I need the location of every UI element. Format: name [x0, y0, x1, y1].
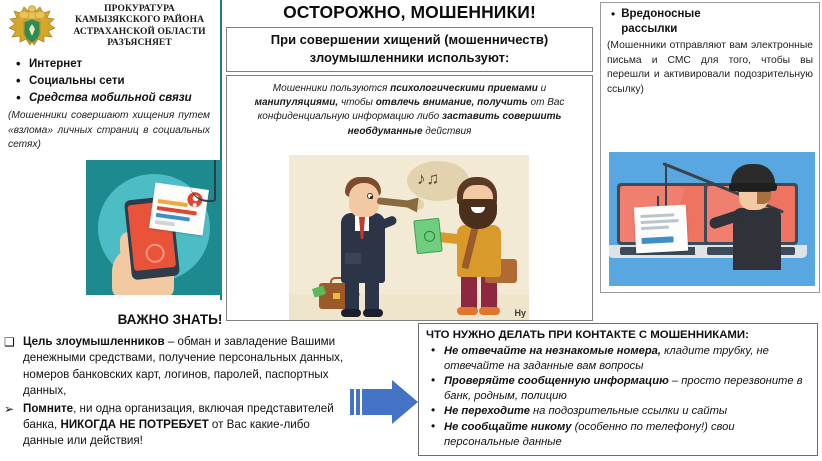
- important-list: ❑ Цель злоумышленников – обман и завладе…: [4, 334, 349, 451]
- psychology-paragraph: Мошенники пользуются психологическими пр…: [239, 82, 580, 139]
- item-bold: Не отвечайте на незнакомые номера,: [444, 345, 661, 357]
- suit-man-figure: [349, 183, 379, 217]
- list-item: Средства мобильной связи: [14, 90, 216, 107]
- what-to-do-box: ЧТО НУЖНО ДЕЛАТЬ ПРИ КОНТАКТЕ С МОШЕННИК…: [418, 323, 818, 456]
- item-bold: Помните: [23, 402, 73, 415]
- center-body-box: Мошенники пользуются психологическими пр…: [226, 75, 593, 321]
- org-line-2: КАМЫЗЯКСКОГО РАЙОНА: [63, 15, 216, 26]
- item-bold: Проверяйте сообщенную информацию: [444, 375, 669, 387]
- money-icon: [413, 218, 442, 255]
- psy-text-bold: манипуляциями,: [255, 97, 339, 108]
- right-panel-note: (Мошенники отправляют вам электронные пи…: [607, 39, 813, 97]
- psy-text-bold: психологическими приемами: [390, 83, 538, 94]
- psy-text-part: и: [538, 83, 546, 94]
- prosecutor-emblem-icon: [4, 2, 60, 50]
- right-bullet-text: Вредоносные рассылки: [621, 7, 700, 37]
- bullet-icon: •: [611, 7, 615, 37]
- victim-figure: [457, 225, 501, 277]
- list-item: ➢ Помните, ни одна организация, включая …: [4, 401, 349, 450]
- right-arrow-icon: [348, 378, 420, 434]
- arrow-bullet-icon: ➢: [4, 401, 14, 417]
- watermark: Ну: [514, 308, 526, 318]
- item-bold: Не сообщайте никому: [444, 421, 571, 433]
- organization-title: ПРОКУРАТУРА КАМЫЗЯКСКОГО РАЙОНА АСТРАХАН…: [63, 2, 216, 50]
- what-to-do-list: Не отвечайте на незнакомые номера, клади…: [426, 344, 809, 449]
- checkbox-bullet-icon: ❑: [4, 334, 15, 350]
- page-title: ОСТОРОЖНО, МОШЕННИКИ!: [226, 0, 593, 27]
- right-panel: • Вредоносные рассылки (Мошенники отправ…: [600, 2, 820, 293]
- subtitle-line-1: При совершении хищений (мошенничеств): [233, 31, 586, 49]
- list-item: Социальны сети: [14, 73, 216, 90]
- list-item: Интернет: [14, 56, 216, 73]
- item-bold: Цель злоумышленников: [23, 335, 165, 348]
- org-line-4: РАЗЪЯСНЯЕТ: [63, 38, 216, 49]
- flute-icon: [377, 197, 412, 208]
- fishing-hook-icon: [190, 160, 216, 202]
- list-item: Не переходите на подозрительные ссылки и…: [426, 404, 809, 419]
- list-item: Проверяйте сообщенную информацию – прост…: [426, 374, 809, 403]
- center-panel: ОСТОРОЖНО, МОШЕННИКИ! При совершении хищ…: [226, 0, 593, 315]
- important-heading: ВАЖНО ЗНАТЬ!: [0, 312, 340, 327]
- phishing-phone-illustration: [86, 160, 222, 295]
- org-line-3: АСТРАХАНСКОЙ ОБЛАСТИ: [63, 27, 216, 38]
- beanie-icon: [731, 164, 775, 186]
- music-notes-icon: ♪♫: [417, 169, 440, 189]
- stolen-document-icon: [634, 205, 688, 254]
- organization-header: ПРОКУРАТУРА КАМЫЗЯКСКОГО РАЙОНА АСТРАХАН…: [4, 2, 216, 50]
- psy-text-bold: отвлечь внимание, получить: [376, 97, 528, 108]
- list-item: Не сообщайте никому (особенно по телефон…: [426, 420, 809, 449]
- subtitle-box: При совершении хищений (мошенничеств) зл…: [226, 27, 593, 72]
- channels-list: Интернет Социальны сети Средства мобильн…: [4, 56, 216, 107]
- list-item: ❑ Цель злоумышленников – обман и завладе…: [4, 334, 349, 400]
- hypnotist-flute-scene: ♪♫: [289, 155, 529, 320]
- laptop-phishing-hacker-illustration: [609, 152, 815, 286]
- infographic-page: ПРОКУРАТУРА КАМЫЗЯКСКОГО РАЙОНА АСТРАХАН…: [0, 0, 822, 461]
- psy-text-part: чтобы: [338, 97, 376, 108]
- psy-text-part: действия: [423, 126, 472, 137]
- right-bullet-line-1: Вредоносные: [621, 8, 700, 20]
- item-bold-2: НИКОГДА НЕ ПОТРЕБУЕТ: [60, 418, 208, 431]
- item-text: на подозрительные ссылки и сайты: [530, 405, 727, 417]
- what-to-do-title: ЧТО НУЖНО ДЕЛАТЬ ПРИ КОНТАКТЕ С МОШЕННИК…: [426, 328, 809, 343]
- org-line-1: ПРОКУРАТУРА: [63, 4, 216, 15]
- subtitle-line-2: злоумышленники используют:: [233, 49, 586, 67]
- right-bullet-line-2: рассылки: [621, 23, 677, 35]
- left-panel-note: (Мошенники совершают хищения путем «взло…: [8, 109, 210, 153]
- list-item: Не отвечайте на незнакомые номера, клади…: [426, 344, 809, 373]
- psy-text-part: Мошенники пользуются: [273, 83, 390, 94]
- item-bold: Не переходите: [444, 405, 530, 417]
- malicious-mail-bullet: • Вредоносные рассылки: [607, 7, 813, 37]
